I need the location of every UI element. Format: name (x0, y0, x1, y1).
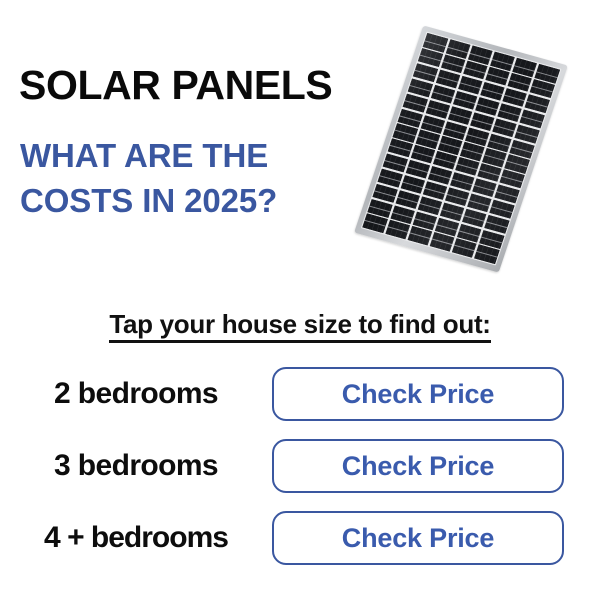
subheading: WHAT ARE THE COSTS IN 2025? (20, 133, 277, 223)
check-price-button[interactable]: Check Price (272, 511, 564, 565)
solar-panel-cell-grid (361, 32, 562, 266)
solar-cell (395, 190, 420, 209)
solar-cell (524, 94, 549, 113)
solar-panel-image (368, 18, 598, 298)
solar-cell (432, 151, 457, 170)
solar-cell (457, 76, 482, 95)
solar-cell (447, 106, 472, 125)
solar-cell (484, 214, 509, 233)
subheading-line-2: COSTS IN 2025? (20, 178, 277, 223)
solar-cell (499, 169, 524, 188)
solar-cell (479, 230, 504, 249)
solar-cell (497, 103, 522, 122)
solar-cell (463, 61, 488, 80)
solar-cell (437, 136, 462, 155)
house-size-label: 3 bedrooms (0, 449, 272, 483)
subheading-line-1: WHAT ARE THE (20, 133, 277, 178)
solar-cell (452, 238, 477, 257)
solar-cell (383, 153, 408, 172)
solar-cell (400, 175, 425, 194)
solar-cell (462, 208, 487, 227)
solar-cell (413, 63, 438, 82)
solar-cell (385, 220, 410, 239)
solar-cell (418, 48, 443, 67)
solar-cell (378, 169, 403, 188)
solar-cell (440, 54, 465, 73)
solar-cell (504, 154, 529, 173)
solar-cell (450, 172, 475, 191)
check-price-button[interactable]: Check Price (272, 367, 564, 421)
solar-cell (534, 64, 559, 83)
prompt-label: Tap your house size to find out: (109, 309, 490, 343)
solar-cell (519, 109, 544, 128)
solar-cell (452, 91, 477, 110)
solar-cell (440, 202, 465, 221)
solar-panel-frame (354, 25, 568, 272)
solar-cell (477, 163, 502, 182)
solar-cell (529, 79, 554, 98)
solar-cell (442, 121, 467, 140)
solar-cell (422, 181, 447, 200)
solar-cell (398, 108, 423, 127)
solar-cell (420, 115, 445, 134)
solar-cell (425, 100, 450, 119)
solar-cell (512, 58, 537, 77)
solar-cell (494, 184, 519, 203)
solar-cell (482, 148, 507, 167)
solar-cell (502, 88, 527, 107)
prompt-text: Tap your house size to find out: (0, 309, 600, 340)
solar-cell (415, 130, 440, 149)
solar-cell (485, 67, 510, 86)
solar-cell (455, 157, 480, 176)
solar-cell (407, 226, 432, 245)
solar-cell (492, 118, 517, 137)
solar-cell (417, 196, 442, 215)
solar-cell (445, 187, 470, 206)
solar-cell (514, 124, 539, 143)
solar-cell (470, 112, 495, 131)
solar-cell (427, 166, 452, 185)
solar-cell (403, 93, 428, 112)
solar-cell (507, 73, 532, 92)
solar-cell (475, 97, 500, 116)
solar-cell (408, 78, 433, 97)
solar-panel-glare (354, 25, 568, 272)
solar-cell (465, 127, 490, 146)
solar-cell (430, 84, 455, 103)
house-size-options: 2 bedroomsCheck Price3 bedroomsCheck Pri… (0, 358, 600, 574)
solar-cell (388, 138, 413, 157)
solar-cell (373, 184, 398, 203)
solar-cell (489, 199, 514, 218)
solar-cell (509, 139, 534, 158)
solar-cell (363, 214, 388, 233)
solar-cell (423, 33, 448, 52)
solar-cell (487, 133, 512, 152)
solar-cell (368, 199, 393, 218)
solar-cell (457, 223, 482, 242)
solar-cell (468, 46, 493, 65)
solar-cell (412, 211, 437, 230)
solar-cell (393, 123, 418, 142)
solar-cell (480, 82, 505, 101)
page-title: SOLAR PANELS (19, 62, 332, 109)
solar-cell (410, 145, 435, 164)
solar-cell (490, 52, 515, 71)
solar-cell (472, 178, 497, 197)
solar-cell (467, 193, 492, 212)
solar-cell (429, 232, 454, 251)
solar-panel-ad: SOLAR PANELS WHAT ARE THE COSTS IN 2025?… (0, 0, 600, 600)
solar-cell (474, 245, 499, 264)
solar-cell (390, 205, 415, 224)
house-size-row: 3 bedroomsCheck Price (0, 430, 600, 502)
house-size-row: 4 + bedroomsCheck Price (0, 502, 600, 574)
solar-cell (460, 142, 485, 161)
solar-cell (445, 39, 470, 58)
house-size-row: 2 bedroomsCheck Price (0, 358, 600, 430)
solar-cell (405, 160, 430, 179)
check-price-button[interactable]: Check Price (272, 439, 564, 493)
solar-cell (435, 217, 460, 236)
solar-cell (435, 69, 460, 88)
house-size-label: 2 bedrooms (0, 377, 272, 411)
house-size-label: 4 + bedrooms (0, 521, 272, 555)
